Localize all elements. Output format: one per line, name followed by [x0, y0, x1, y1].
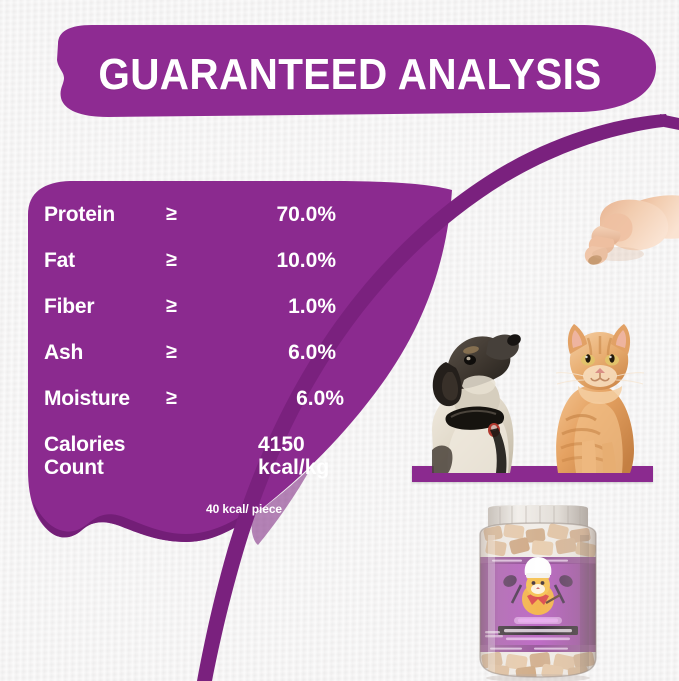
nutrient-label-fat: Fat: [44, 249, 166, 272]
qualifier-fiber: ≥: [166, 295, 220, 318]
header-banner: GUARANTEED ANALYSIS: [0, 0, 679, 140]
page-title: GUARANTEED ANALYSIS: [83, 44, 617, 106]
qualifier-protein: ≥: [166, 203, 220, 226]
guaranteed-analysis-infographic: GUARANTEED ANALYSIS Protein ≥ 70.0% Fat …: [0, 0, 679, 681]
qualifier-moisture: ≥: [166, 387, 220, 410]
qualifier-ash: ≥: [166, 341, 220, 364]
guaranteed-analysis-table: Protein ≥ 70.0% Fat ≥ 10.0% Fiber ≥ 1.0%…: [44, 203, 344, 507]
hand-holding-treat-photo: [570, 190, 679, 270]
nutrient-label-calories-count: Calories Count: [44, 433, 166, 479]
table-row: Fat ≥ 10.0%: [44, 249, 344, 295]
table-row: Moisture ≥ 6.0%: [44, 387, 344, 433]
value-fiber: 1.0%: [220, 295, 344, 318]
nutrient-label-protein: Protein: [44, 203, 166, 226]
nutrient-label-fiber: Fiber: [44, 295, 166, 318]
orange-cat-sitting-photo: [540, 310, 648, 473]
dog-looking-up-photo: [418, 318, 538, 473]
calories-per-piece-note: 40 kcal/ piece: [206, 502, 282, 516]
qualifier-fat: ≥: [166, 249, 220, 272]
value-protein: 70.0%: [220, 203, 344, 226]
nutrient-label-moisture: Moisture: [44, 387, 166, 410]
nutrient-label-ash: Ash: [44, 341, 166, 364]
table-row: Protein ≥ 70.0%: [44, 203, 344, 249]
value-fat: 10.0%: [220, 249, 344, 272]
table-row: Fiber ≥ 1.0%: [44, 295, 344, 341]
value-calories-count: 4150 kcal/kg: [220, 433, 344, 479]
treat-jar-product-photo: [468, 505, 608, 681]
value-ash: 6.0%: [220, 341, 344, 364]
table-row: Calories Count 4150 kcal/kg: [44, 433, 344, 507]
value-moisture: 6.0%: [220, 387, 344, 410]
table-row: Ash ≥ 6.0%: [44, 341, 344, 387]
